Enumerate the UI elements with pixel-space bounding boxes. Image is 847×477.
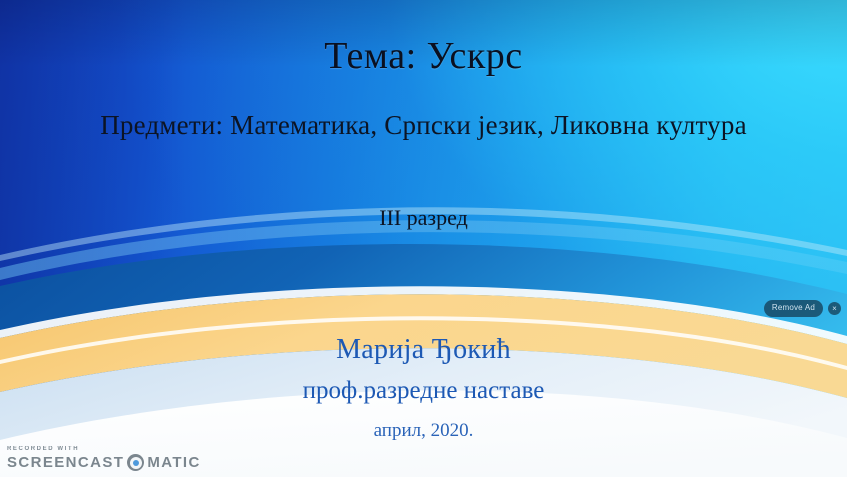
record-target-ring (130, 457, 142, 469)
slide-author-role: проф.разредне наставе (0, 377, 847, 405)
watermark-recorded-with-label: RECORDED WITH (7, 446, 201, 452)
slide-title: Тема: Ускрс (0, 34, 847, 78)
slide-date: април, 2020. (0, 420, 847, 442)
ad-overlay: Remove Ad × (764, 300, 841, 317)
watermark-word-screencast: SCREENCAST (7, 454, 124, 471)
slide-text-layer: Тема: Ускрс Предмети: Математика, Српски… (0, 0, 847, 477)
screencast-o-matic-watermark: RECORDED WITH SCREENCAST MATIC (7, 446, 201, 471)
slide-author-name: Марија Ђокић (0, 334, 847, 366)
close-icon[interactable]: × (828, 302, 841, 315)
remove-ad-button[interactable]: Remove Ad (764, 300, 823, 317)
record-target-dot (133, 460, 139, 466)
slide-grade: III разред (0, 205, 847, 231)
watermark-brand: SCREENCAST MATIC (7, 454, 201, 471)
slide-subjects: Предмети: Математика, Српски језик, Лико… (0, 110, 847, 141)
watermark-word-matic: MATIC (147, 454, 200, 471)
record-target-icon (127, 454, 144, 471)
presentation-slide: Тема: Ускрс Предмети: Математика, Српски… (0, 0, 847, 477)
